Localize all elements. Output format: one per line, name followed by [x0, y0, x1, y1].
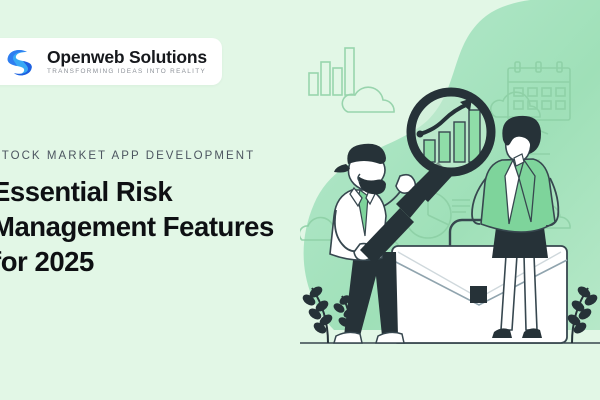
logo-badge[interactable]: Openweb Solutions TRANSFORMING IDEAS INT…: [0, 38, 222, 85]
headline-line-2: Management Features: [0, 211, 274, 242]
business-analytics-illustration: [300, 0, 600, 400]
openweb-s-swirl-icon: [4, 45, 38, 79]
cloud-icon: [342, 87, 394, 112]
page-title: Essential Risk Management Features for 2…: [0, 175, 322, 279]
logo-name: Openweb Solutions: [47, 48, 207, 66]
small-bar-chart-icon: [309, 48, 354, 95]
headline-line-3: for 2025: [0, 246, 94, 277]
hero-eyebrow: STOCK MARKET APP DEVELOPMENT: [0, 150, 322, 162]
logo-text-block: Openweb Solutions TRANSFORMING IDEAS INT…: [47, 48, 207, 75]
hero-banner: Openweb Solutions TRANSFORMING IDEAS INT…: [0, 0, 600, 400]
hero-copy: STOCK MARKET APP DEVELOPMENT Essential R…: [0, 150, 322, 279]
headline-line-1: Essential Risk: [0, 176, 172, 207]
logo-tagline: TRANSFORMING IDEAS INTO REALITY: [47, 69, 207, 75]
